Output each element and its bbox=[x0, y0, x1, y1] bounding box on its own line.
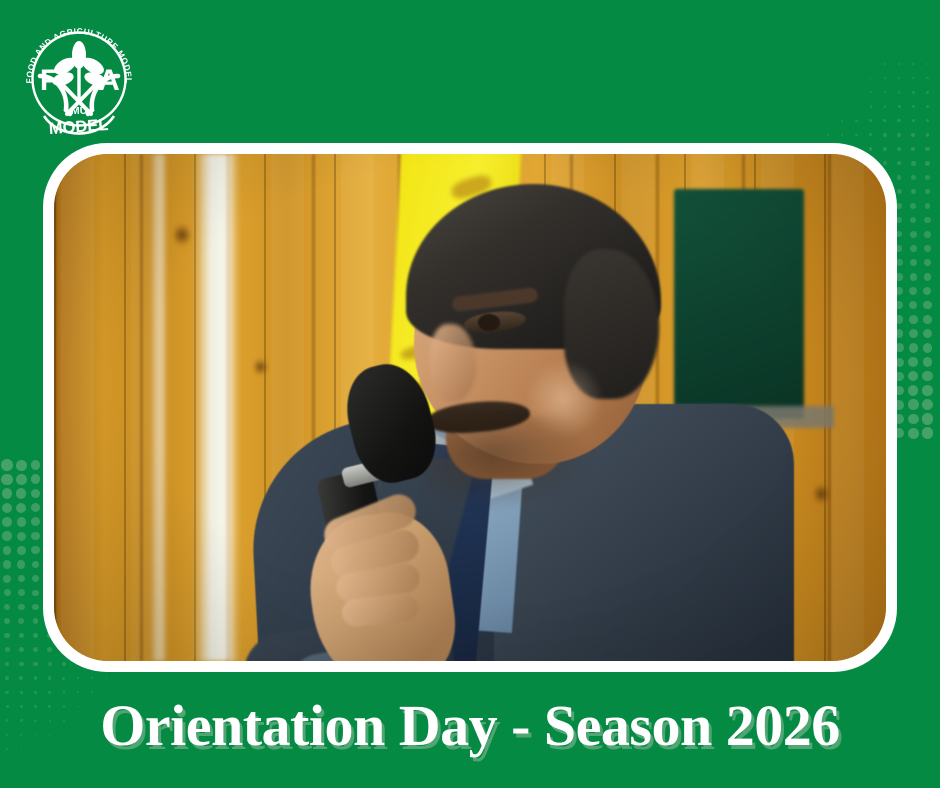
halftone-dot bbox=[31, 489, 41, 499]
halftone-dot bbox=[870, 77, 872, 79]
halftone-dot bbox=[4, 589, 11, 596]
halftone-dot bbox=[4, 633, 10, 639]
halftone-dot bbox=[827, 134, 828, 135]
speaker-pupil bbox=[478, 314, 500, 331]
halftone-dot bbox=[31, 503, 40, 512]
speaker-nose bbox=[430, 324, 476, 402]
halftone-dot bbox=[62, 662, 66, 666]
halftone-dot bbox=[923, 329, 932, 338]
halftone-dot bbox=[897, 119, 900, 122]
halftone-dot bbox=[923, 301, 931, 309]
halftone-dot bbox=[3, 546, 12, 555]
halftone-dot bbox=[908, 428, 919, 439]
halftone-dot bbox=[34, 676, 38, 680]
halftone-dot bbox=[924, 245, 931, 252]
halftone-dot bbox=[855, 134, 858, 137]
halftone-dot bbox=[48, 662, 52, 666]
halftone-dot bbox=[897, 189, 902, 194]
halftone-dot bbox=[925, 161, 930, 166]
halftone-dot bbox=[3, 560, 11, 568]
halftone-dot bbox=[32, 604, 38, 610]
halftone-dot bbox=[2, 488, 13, 499]
halftone-dot bbox=[5, 676, 9, 680]
halftone-dot bbox=[856, 106, 858, 108]
halftone-dot bbox=[908, 414, 919, 425]
halftone-dot bbox=[897, 147, 901, 151]
halftone-dot bbox=[911, 161, 916, 166]
logo-mu-text: MU bbox=[71, 105, 87, 117]
halftone-dot bbox=[2, 517, 12, 527]
halftone-dot bbox=[922, 427, 934, 439]
halftone-dot bbox=[922, 371, 932, 381]
poster-canvas: FOOD AND AGRICULTURE MODEL F A MU MODEL bbox=[0, 0, 940, 788]
halftone-dot bbox=[48, 676, 52, 680]
halftone-dot bbox=[17, 560, 25, 568]
halftone-dot bbox=[925, 189, 930, 194]
halftone-dot bbox=[106, 677, 108, 679]
halftone-dot bbox=[923, 343, 933, 353]
halftone-dot bbox=[5, 647, 10, 652]
halftone-dot bbox=[927, 49, 929, 51]
halftone-dot bbox=[884, 105, 887, 108]
page-title: Orientation Day - Season 2026 bbox=[0, 692, 940, 759]
halftone-dot bbox=[16, 460, 27, 471]
halftone-dot bbox=[909, 343, 918, 352]
halftone-dot bbox=[898, 63, 900, 65]
halftone-dot bbox=[2, 531, 11, 540]
halftone-dot bbox=[1, 474, 12, 485]
halftone-dot bbox=[19, 647, 24, 652]
halftone-dot bbox=[926, 119, 929, 122]
halftone-dot bbox=[33, 647, 38, 652]
halftone-dot bbox=[908, 385, 918, 395]
halftone-dot bbox=[17, 517, 27, 527]
halftone-dot bbox=[32, 590, 39, 597]
halftone-dot bbox=[896, 203, 901, 208]
halftone-dot bbox=[4, 618, 10, 624]
halftone-dot bbox=[32, 575, 39, 582]
halftone-dot bbox=[32, 561, 40, 569]
halftone-dot bbox=[908, 371, 918, 381]
halftone-dot bbox=[924, 273, 932, 281]
halftone-dot bbox=[33, 662, 37, 666]
halftone-dot bbox=[870, 91, 872, 93]
halftone-dot bbox=[926, 77, 928, 79]
halftone-dot bbox=[923, 287, 931, 295]
halftone-dot bbox=[926, 105, 929, 108]
halftone-dot bbox=[31, 474, 41, 484]
halftone-dot bbox=[31, 546, 39, 554]
halftone-dot bbox=[910, 231, 916, 237]
halftone-dot bbox=[841, 120, 843, 122]
logo-letter-a: A bbox=[98, 64, 120, 97]
halftone-dot bbox=[91, 677, 93, 679]
halftone-dot bbox=[911, 147, 915, 151]
halftone-dot bbox=[869, 119, 872, 122]
halftone-dot bbox=[19, 662, 24, 667]
halftone-dot bbox=[898, 105, 901, 108]
halftone-dot bbox=[883, 147, 887, 151]
halftone-dot bbox=[924, 231, 930, 237]
halftone-dot bbox=[16, 474, 27, 485]
halftone-dot bbox=[897, 161, 901, 165]
halftone-dot bbox=[912, 63, 914, 65]
halftone-dot bbox=[910, 259, 917, 266]
halftone-dot bbox=[908, 357, 918, 367]
halftone-dot bbox=[909, 287, 917, 295]
halftone-dot bbox=[17, 546, 26, 555]
halftone-dot bbox=[910, 203, 916, 209]
halftone-dot bbox=[856, 92, 858, 94]
halftone-dot bbox=[926, 133, 930, 137]
halftone-dot bbox=[898, 91, 901, 94]
halftone-dot bbox=[47, 647, 52, 652]
halftone-dot bbox=[18, 589, 25, 596]
event-photo bbox=[54, 154, 886, 661]
halftone-dot bbox=[897, 133, 901, 137]
halftone-dot bbox=[18, 575, 26, 583]
halftone-dot bbox=[910, 245, 917, 252]
halftone-dot bbox=[17, 532, 26, 541]
halftone-dot bbox=[3, 575, 11, 583]
halftone-dot bbox=[922, 399, 933, 410]
halftone-dot bbox=[924, 217, 930, 223]
halftone-dot bbox=[925, 147, 929, 151]
halftone-dot bbox=[31, 517, 40, 526]
halftone-dot bbox=[18, 618, 24, 624]
halftone-dot bbox=[912, 119, 915, 122]
halftone-dot bbox=[909, 315, 918, 324]
halftone-dot bbox=[922, 385, 933, 396]
halftone-dot bbox=[18, 604, 25, 611]
halftone-dot bbox=[16, 488, 26, 498]
halftone-dot bbox=[855, 120, 857, 122]
halftone-dot bbox=[869, 133, 872, 136]
halftone-dot bbox=[33, 633, 38, 638]
halftone-dot bbox=[912, 105, 915, 108]
halftone-dot bbox=[925, 175, 930, 180]
halftone-dot bbox=[926, 91, 929, 94]
halftone-dot bbox=[910, 217, 916, 223]
halftone-dot bbox=[909, 301, 917, 309]
halftone-dot bbox=[19, 676, 23, 680]
halftone-dot bbox=[911, 175, 916, 180]
halftone-dot bbox=[4, 604, 11, 611]
halftone-dot bbox=[883, 119, 886, 122]
halftone-dot bbox=[925, 203, 931, 209]
halftone-dot bbox=[927, 63, 929, 65]
halftone-dot bbox=[870, 105, 872, 107]
halftone-dot bbox=[922, 413, 933, 424]
halftone-dot bbox=[910, 273, 918, 281]
speaker-figure bbox=[54, 154, 886, 661]
halftone-dot bbox=[31, 460, 41, 470]
halftone-dot bbox=[898, 77, 900, 79]
halftone-dot bbox=[897, 175, 902, 180]
halftone-dot bbox=[883, 133, 886, 136]
halftone-dot bbox=[912, 77, 914, 79]
halftone-dot bbox=[884, 77, 886, 79]
halftone-dot bbox=[912, 91, 915, 94]
halftone-dot bbox=[884, 91, 886, 93]
halftone-dot bbox=[16, 503, 26, 513]
photo-frame bbox=[43, 143, 897, 672]
halftone-dot bbox=[908, 399, 919, 410]
halftone-dot bbox=[77, 677, 80, 680]
halftone-dot bbox=[896, 217, 902, 223]
halftone-dot bbox=[911, 189, 916, 194]
speaker-beard-shadow bbox=[424, 416, 594, 511]
halftone-dot bbox=[62, 677, 65, 680]
halftone-dot bbox=[33, 618, 39, 624]
logo-letter-f: F bbox=[40, 64, 58, 97]
halftone-dot bbox=[869, 147, 872, 150]
halftone-dot bbox=[923, 357, 933, 367]
fa-model-logo: FOOD AND AGRICULTURE MODEL F A MU MODEL bbox=[18, 18, 140, 140]
halftone-dot bbox=[923, 315, 932, 324]
halftone-dot bbox=[1, 459, 13, 471]
halftone-dot bbox=[913, 49, 915, 51]
halftone-dot bbox=[5, 662, 10, 667]
halftone-dot bbox=[841, 134, 843, 136]
halftone-dot bbox=[924, 259, 931, 266]
halftone-dot bbox=[884, 63, 886, 65]
halftone-dot bbox=[31, 532, 40, 541]
halftone-dot bbox=[909, 329, 918, 338]
halftone-dot bbox=[2, 503, 12, 513]
halftone-dot bbox=[911, 133, 915, 137]
halftone-dot bbox=[19, 633, 25, 639]
